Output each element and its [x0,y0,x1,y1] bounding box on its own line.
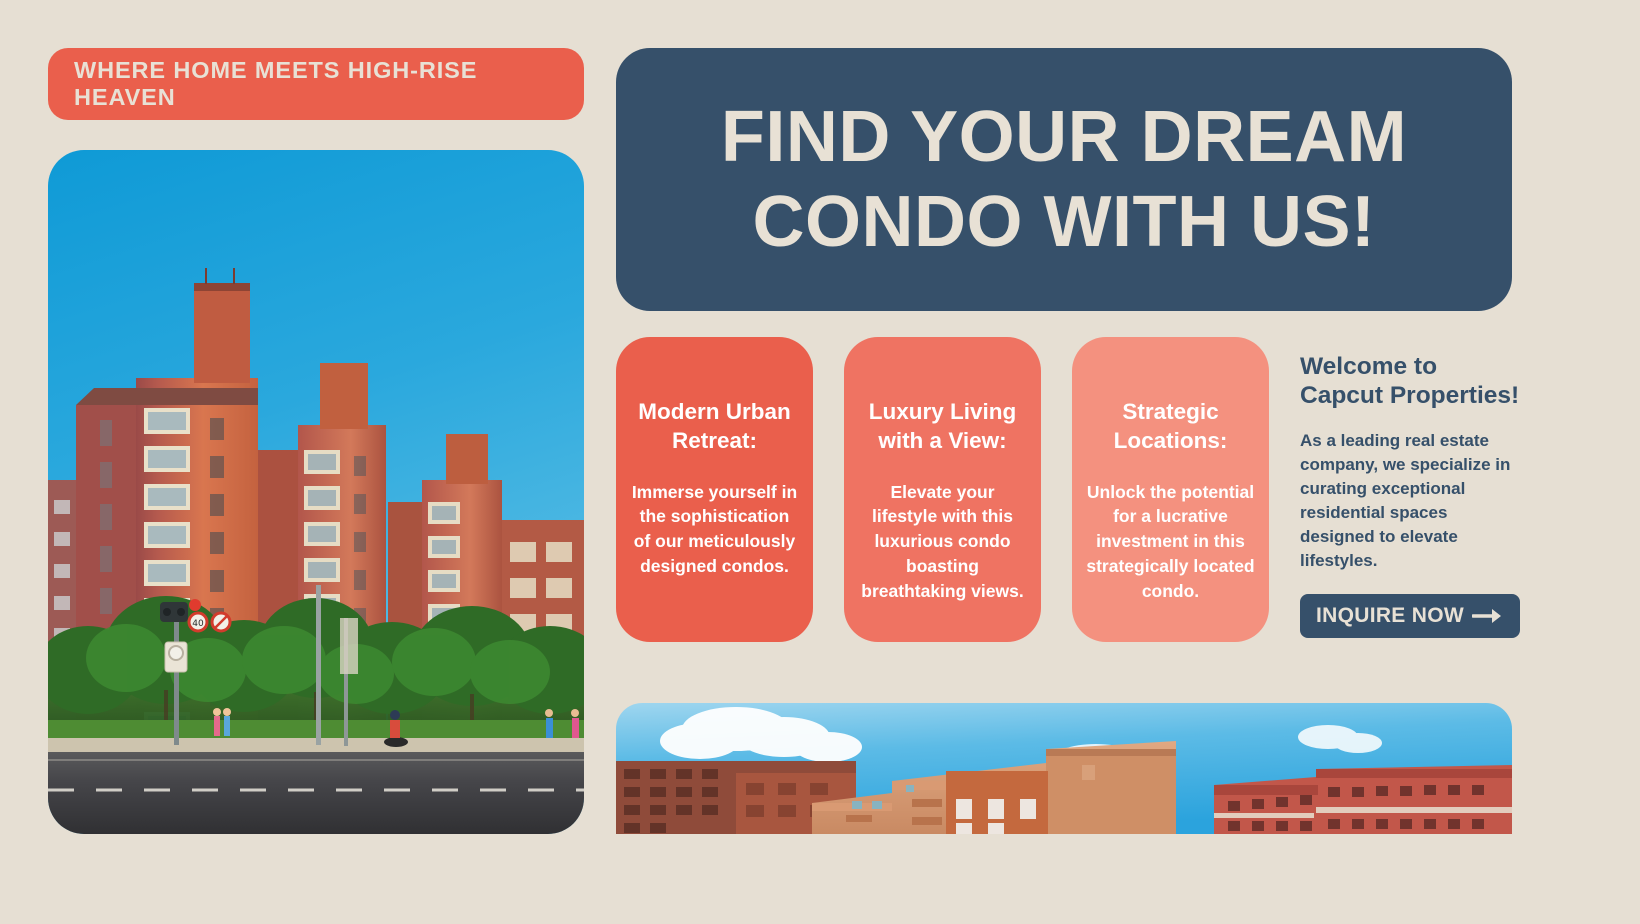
headline-panel: FIND YOUR DREAM CONDO WITH US! [616,48,1512,311]
bottom-photo-illustration [616,703,1512,834]
welcome-block: Welcome to Capcut Properties! As a leadi… [1300,352,1522,574]
left-hero-photo: 40 [48,150,584,834]
left-photo-illustration: 40 [48,150,584,834]
arrow-right-icon [1472,607,1502,625]
feature-card-title: Luxury Living with a View: [858,397,1027,456]
feature-card-body: Elevate your lifestyle with this luxurio… [858,480,1027,604]
poster-canvas: WHERE HOME MEETS HIGH-RISE HEAVEN [0,0,1640,924]
svg-text:40: 40 [192,619,204,629]
welcome-title: Welcome to Capcut Properties! [1300,352,1522,411]
inquire-now-button[interactable]: INQUIRE NOW [1300,594,1520,638]
feature-card-body: Immerse yourself in the sophistication o… [630,480,799,579]
feature-card-body: Unlock the potential for a lucrative inv… [1086,480,1255,604]
headline-line-2: CONDO WITH US! [753,180,1376,265]
feature-card-title: Modern Urban Retreat: [630,397,799,456]
inquire-now-label: INQUIRE NOW [1316,604,1464,628]
welcome-body: As a leading real estate company, we spe… [1300,429,1522,574]
tagline-banner: WHERE HOME MEETS HIGH-RISE HEAVEN [48,48,584,120]
tagline-text: WHERE HOME MEETS HIGH-RISE HEAVEN [74,57,584,111]
feature-card-strategic-locations[interactable]: Strategic Locations: Unlock the potentia… [1072,337,1269,642]
feature-card-title: Strategic Locations: [1086,397,1255,456]
headline-line-1: FIND YOUR DREAM [721,95,1407,180]
feature-card-modern-urban-retreat[interactable]: Modern Urban Retreat: Immerse yourself i… [616,337,813,642]
bottom-hero-photo [616,703,1512,834]
feature-card-luxury-living-with-a-view[interactable]: Luxury Living with a View: Elevate your … [844,337,1041,642]
